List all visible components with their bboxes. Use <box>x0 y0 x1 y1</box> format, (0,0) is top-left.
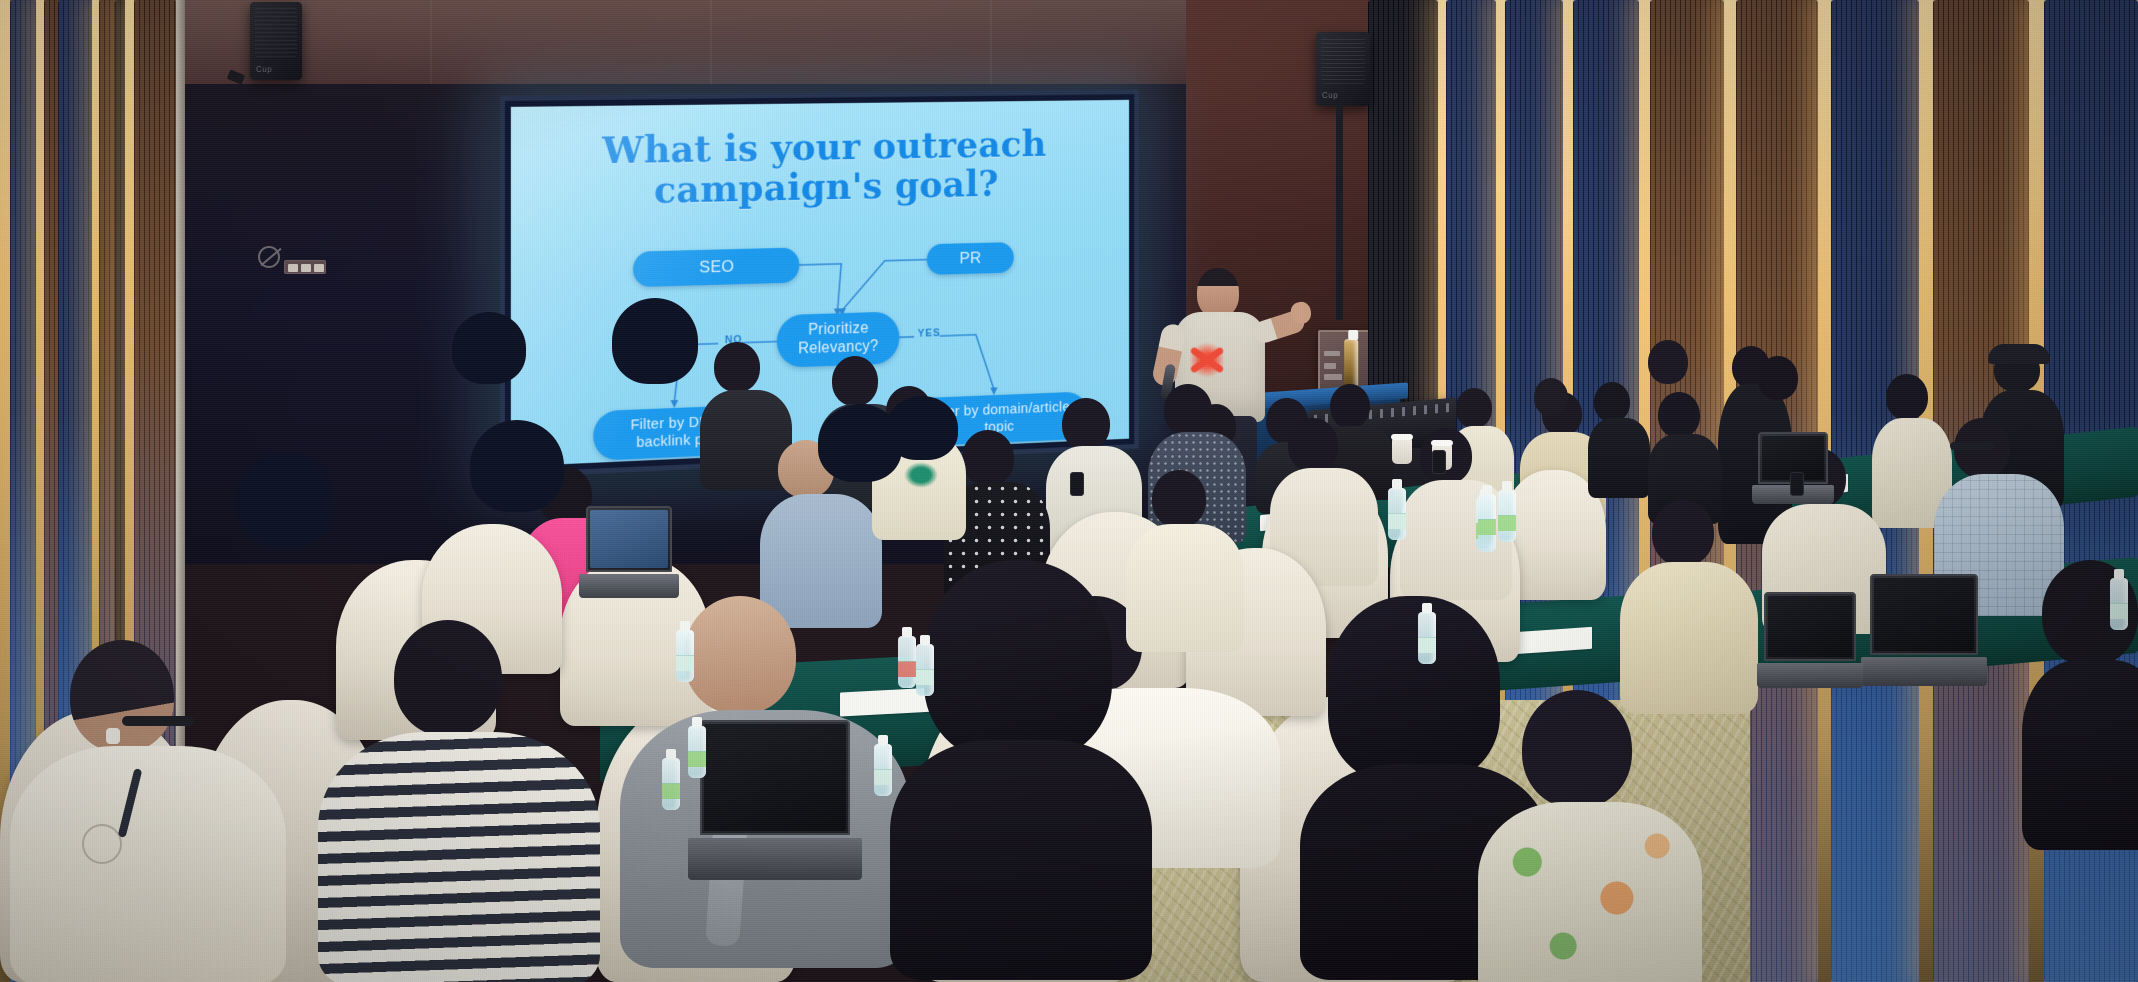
laptop[interactable] <box>1764 592 1856 688</box>
attendee-head-silhouette <box>470 420 564 512</box>
glasses-icon <box>1950 442 1994 450</box>
attendee-head-silhouette <box>886 396 958 460</box>
laptop[interactable] <box>1870 574 1978 686</box>
presenter-shirt-graphic-icon <box>1187 340 1227 380</box>
laptop[interactable] <box>700 720 850 880</box>
projection-screen: What is your outreach campaign's goal? <box>500 89 1139 478</box>
polo-chest-logo-icon <box>82 824 122 864</box>
water-bottle[interactable] <box>898 636 916 688</box>
attendee-head-silhouette <box>612 298 698 384</box>
presenter-head <box>1197 268 1239 318</box>
left-speaker-brand: Cup <box>256 65 272 74</box>
mobile-phone[interactable] <box>1790 472 1804 496</box>
water-bottle[interactable] <box>1418 612 1436 664</box>
water-bottle[interactable] <box>676 630 694 682</box>
coffee-cup[interactable] <box>1392 438 1412 464</box>
slide-flowchart: SEO PR Prioritize Relevancy? Filter by D… <box>511 100 1129 467</box>
attendee-head-silhouette <box>452 312 526 384</box>
shirt-logo-icon <box>904 462 938 488</box>
earbud-icon <box>106 728 120 744</box>
laptop[interactable] <box>586 506 672 598</box>
slide-surface: What is your outreach campaign's goal? <box>511 100 1129 467</box>
glasses-icon <box>122 716 194 726</box>
no-smoking-icon <box>258 246 280 268</box>
water-bottle[interactable] <box>1478 494 1496 546</box>
right-speaker-pole <box>1336 100 1343 320</box>
water-bottle[interactable] <box>688 726 706 778</box>
right-speaker-brand: Cup <box>1322 91 1338 100</box>
mobile-phone[interactable] <box>1432 450 1446 474</box>
water-bottle[interactable] <box>2110 578 2128 630</box>
flow-node-pr: PR <box>927 242 1014 275</box>
flow-node-prioritize: Prioritize Relevancy? <box>777 311 900 367</box>
mobile-phone[interactable] <box>1070 472 1084 496</box>
wall-control-panel[interactable] <box>284 260 326 274</box>
baseball-cap-icon <box>1988 344 2050 364</box>
water-bottle[interactable] <box>662 758 680 810</box>
attendee-head-silhouette <box>236 452 334 548</box>
flow-node-seo: SEO <box>633 247 799 287</box>
water-bottle[interactable] <box>1388 488 1406 540</box>
water-bottle[interactable] <box>1498 490 1516 542</box>
left-speaker-icon: Cup <box>250 2 302 80</box>
water-bottle[interactable] <box>874 744 892 796</box>
conference-room-scene: Cup Cup What is your <box>0 0 2138 982</box>
right-speaker-icon: Cup <box>1316 32 1370 106</box>
water-bottle[interactable] <box>916 644 934 696</box>
flow-edge-label-yes: YES <box>918 327 941 339</box>
